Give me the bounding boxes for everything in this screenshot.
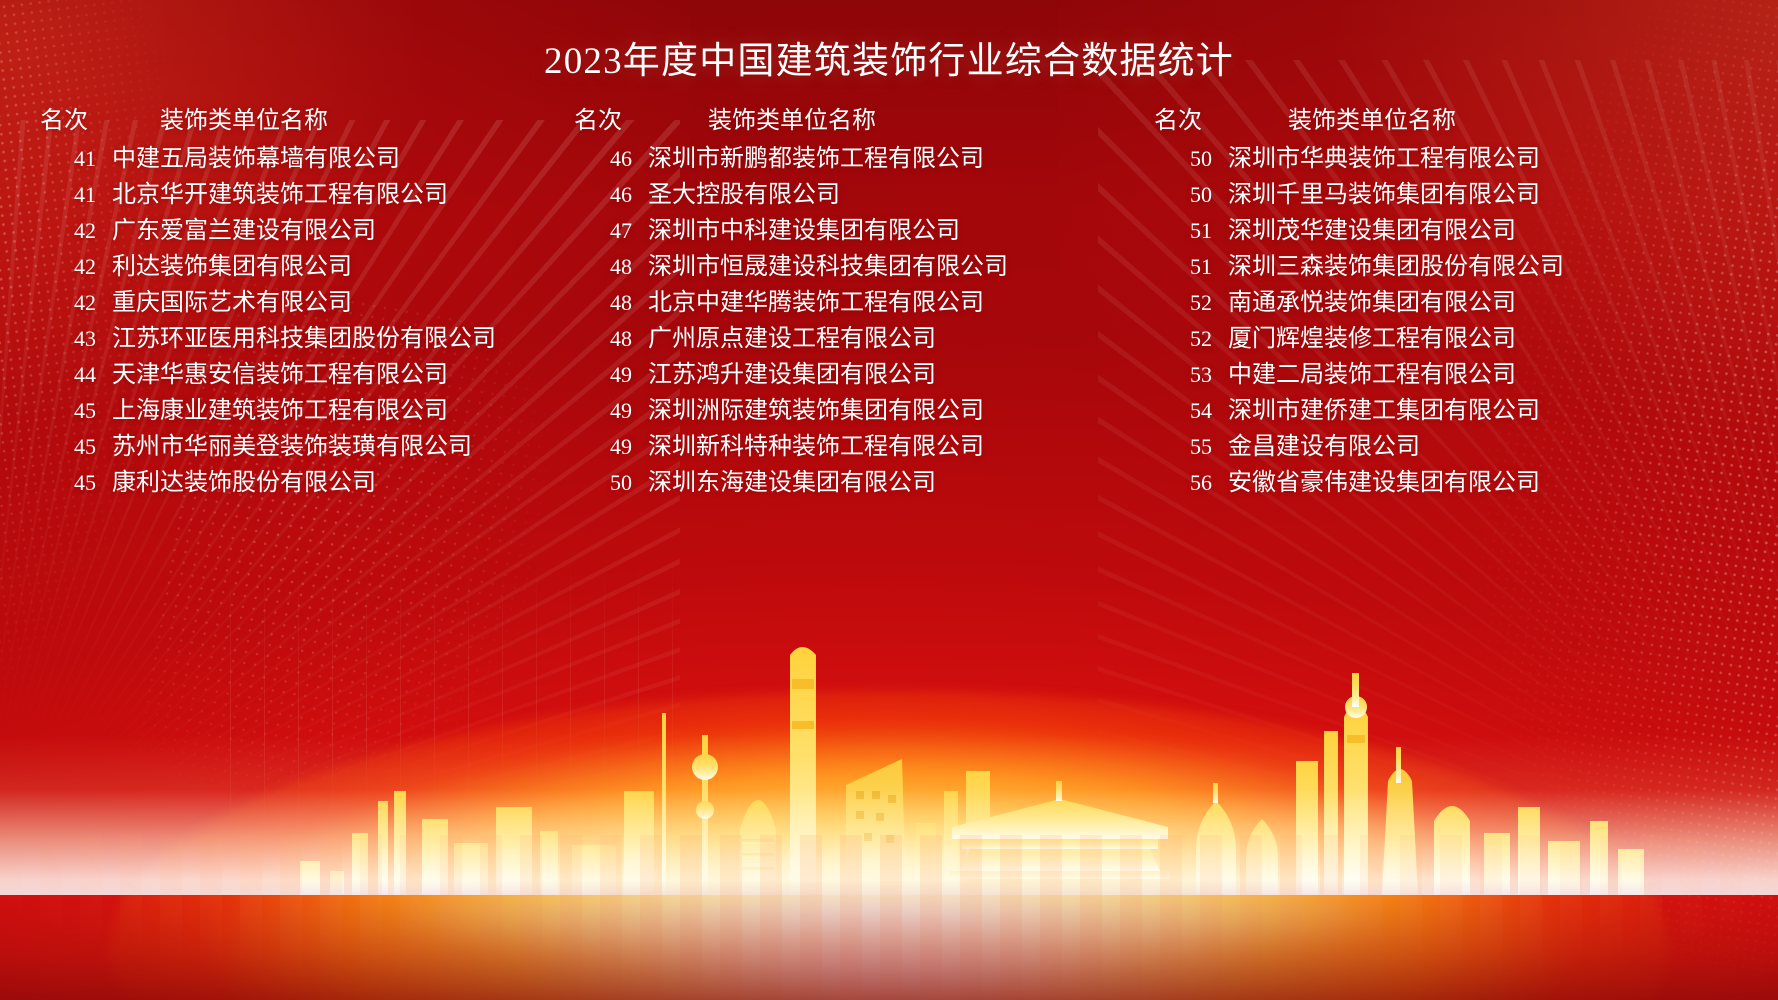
row-unit-name: 利达装饰集团有限公司 — [112, 246, 352, 281]
row-rank: 43 — [38, 326, 112, 352]
ranking-table: 名次 装饰类单位名称 41中建五局装饰幕墙有限公司 41北京华开建筑装饰工程有限… — [0, 100, 1778, 498]
row-rank: 49 — [560, 362, 648, 388]
row-unit-name: 深圳千里马装饰集团有限公司 — [1228, 174, 1540, 209]
header-rank-label: 名次 — [1140, 100, 1242, 135]
row-unit-name: 深圳茂华建设集团有限公司 — [1228, 210, 1516, 245]
row-unit-name: 重庆国际艺术有限公司 — [112, 282, 352, 317]
row-rank: 41 — [38, 146, 112, 172]
table-row: 55金昌建设有限公司 — [1140, 426, 1778, 462]
row-unit-name: 江苏鸿升建设集团有限公司 — [648, 354, 936, 389]
poster-canvas: 2023年度中国建筑装饰行业综合数据统计 名次 装饰类单位名称 41中建五局装饰… — [0, 0, 1778, 1000]
table-row: 50深圳市华典装饰工程有限公司 — [1140, 138, 1778, 174]
row-unit-name: 深圳市恒晟建设科技集团有限公司 — [648, 246, 1008, 281]
ranking-column-2: 名次 装饰类单位名称 46深圳市新鹏都装饰工程有限公司 46圣大控股有限公司 4… — [560, 100, 1130, 498]
row-rank: 48 — [560, 326, 648, 352]
row-rank: 51 — [1140, 254, 1228, 280]
table-row: 49深圳洲际建筑装饰集团有限公司 — [560, 390, 1130, 426]
row-unit-name: 安徽省豪伟建设集团有限公司 — [1228, 462, 1540, 497]
table-row: 49江苏鸿升建设集团有限公司 — [560, 354, 1130, 390]
table-row: 49深圳新科特种装饰工程有限公司 — [560, 426, 1130, 462]
row-unit-name: 圣大控股有限公司 — [648, 174, 840, 209]
row-rank: 50 — [1140, 182, 1228, 208]
table-row: 47深圳市中科建设集团有限公司 — [560, 210, 1130, 246]
row-rank: 56 — [1140, 470, 1228, 496]
row-rank: 46 — [560, 182, 648, 208]
ground-shadow — [0, 880, 1778, 1000]
row-rank: 50 — [1140, 146, 1228, 172]
table-row: 44天津华惠安信装饰工程有限公司 — [38, 354, 560, 390]
header-rank-label: 名次 — [560, 100, 662, 135]
row-unit-name: 天津华惠安信装饰工程有限公司 — [112, 354, 448, 389]
row-unit-name: 深圳市华典装饰工程有限公司 — [1228, 138, 1540, 173]
row-unit-name: 北京华开建筑装饰工程有限公司 — [112, 174, 448, 209]
table-row: 53中建二局装饰工程有限公司 — [1140, 354, 1778, 390]
row-unit-name: 深圳市新鹏都装饰工程有限公司 — [648, 138, 984, 173]
table-row: 45上海康业建筑装饰工程有限公司 — [38, 390, 560, 426]
row-unit-name: 厦门辉煌装修工程有限公司 — [1228, 318, 1516, 353]
ranking-column-3: 名次 装饰类单位名称 50深圳市华典装饰工程有限公司 50深圳千里马装饰集团有限… — [1130, 100, 1778, 498]
table-row: 48北京中建华腾装饰工程有限公司 — [560, 282, 1130, 318]
row-rank: 42 — [38, 218, 112, 244]
row-unit-name: 深圳新科特种装饰工程有限公司 — [648, 426, 984, 461]
table-row: 42重庆国际艺术有限公司 — [38, 282, 560, 318]
row-rank: 41 — [38, 182, 112, 208]
row-rank: 45 — [38, 434, 112, 460]
header-unit-name-label: 装饰类单位名称 — [114, 100, 328, 135]
row-rank: 44 — [38, 362, 112, 388]
column-3-header: 名次 装饰类单位名称 — [1140, 100, 1778, 138]
row-rank: 45 — [38, 470, 112, 496]
row-rank: 42 — [38, 254, 112, 280]
header-unit-name-label: 装饰类单位名称 — [1242, 100, 1456, 135]
row-rank: 48 — [560, 254, 648, 280]
row-rank: 47 — [560, 218, 648, 244]
row-unit-name: 江苏环亚医用科技集团股份有限公司 — [112, 318, 496, 353]
header-rank-label: 名次 — [38, 100, 114, 135]
row-rank: 48 — [560, 290, 648, 316]
table-row: 41中建五局装饰幕墙有限公司 — [38, 138, 560, 174]
table-row: 48深圳市恒晟建设科技集团有限公司 — [560, 246, 1130, 282]
column-2-header: 名次 装饰类单位名称 — [560, 100, 1130, 138]
row-rank: 50 — [560, 470, 648, 496]
table-row: 50深圳东海建设集团有限公司 — [560, 462, 1130, 498]
row-unit-name: 北京中建华腾装饰工程有限公司 — [648, 282, 984, 317]
table-row: 42利达装饰集团有限公司 — [38, 246, 560, 282]
row-rank: 55 — [1140, 434, 1228, 460]
ranking-column-1: 名次 装饰类单位名称 41中建五局装饰幕墙有限公司 41北京华开建筑装饰工程有限… — [0, 100, 560, 498]
row-unit-name: 苏州市华丽美登装饰装璜有限公司 — [112, 426, 472, 461]
table-row: 48广州原点建设工程有限公司 — [560, 318, 1130, 354]
row-rank: 52 — [1140, 326, 1228, 352]
table-row: 52南通承悦装饰集团有限公司 — [1140, 282, 1778, 318]
table-row: 54深圳市建侨建工集团有限公司 — [1140, 390, 1778, 426]
row-unit-name: 南通承悦装饰集团有限公司 — [1228, 282, 1516, 317]
row-rank: 46 — [560, 146, 648, 172]
page-title: 2023年度中国建筑装饰行业综合数据统计 — [0, 30, 1778, 84]
table-row: 52厦门辉煌装修工程有限公司 — [1140, 318, 1778, 354]
row-rank: 49 — [560, 398, 648, 424]
table-row: 45康利达装饰股份有限公司 — [38, 462, 560, 498]
table-row: 46深圳市新鹏都装饰工程有限公司 — [560, 138, 1130, 174]
row-unit-name: 深圳市建侨建工集团有限公司 — [1228, 390, 1540, 425]
row-rank: 53 — [1140, 362, 1228, 388]
table-row: 43江苏环亚医用科技集团股份有限公司 — [38, 318, 560, 354]
row-unit-name: 广东爱富兰建设有限公司 — [112, 210, 376, 245]
row-unit-name: 深圳洲际建筑装饰集团有限公司 — [648, 390, 984, 425]
row-rank: 54 — [1140, 398, 1228, 424]
row-unit-name: 上海康业建筑装饰工程有限公司 — [112, 390, 448, 425]
table-row: 56安徽省豪伟建设集团有限公司 — [1140, 462, 1778, 498]
row-rank: 52 — [1140, 290, 1228, 316]
row-unit-name: 广州原点建设工程有限公司 — [648, 318, 936, 353]
table-row: 51深圳三森装饰集团股份有限公司 — [1140, 246, 1778, 282]
table-row: 50深圳千里马装饰集团有限公司 — [1140, 174, 1778, 210]
column-1-header: 名次 装饰类单位名称 — [38, 100, 560, 138]
table-row: 46圣大控股有限公司 — [560, 174, 1130, 210]
table-row: 42广东爱富兰建设有限公司 — [38, 210, 560, 246]
table-row: 51深圳茂华建设集团有限公司 — [1140, 210, 1778, 246]
row-unit-name: 中建二局装饰工程有限公司 — [1228, 354, 1516, 389]
row-unit-name: 金昌建设有限公司 — [1228, 426, 1420, 461]
row-unit-name: 中建五局装饰幕墙有限公司 — [112, 138, 400, 173]
table-row: 45苏州市华丽美登装饰装璜有限公司 — [38, 426, 560, 462]
row-unit-name: 康利达装饰股份有限公司 — [112, 462, 376, 497]
header-unit-name-label: 装饰类单位名称 — [662, 100, 876, 135]
row-rank: 49 — [560, 434, 648, 460]
row-rank: 42 — [38, 290, 112, 316]
row-unit-name: 深圳三森装饰集团股份有限公司 — [1228, 246, 1564, 281]
row-unit-name: 深圳市中科建设集团有限公司 — [648, 210, 960, 245]
row-rank: 45 — [38, 398, 112, 424]
row-unit-name: 深圳东海建设集团有限公司 — [648, 462, 936, 497]
row-rank: 51 — [1140, 218, 1228, 244]
table-row: 41北京华开建筑装饰工程有限公司 — [38, 174, 560, 210]
